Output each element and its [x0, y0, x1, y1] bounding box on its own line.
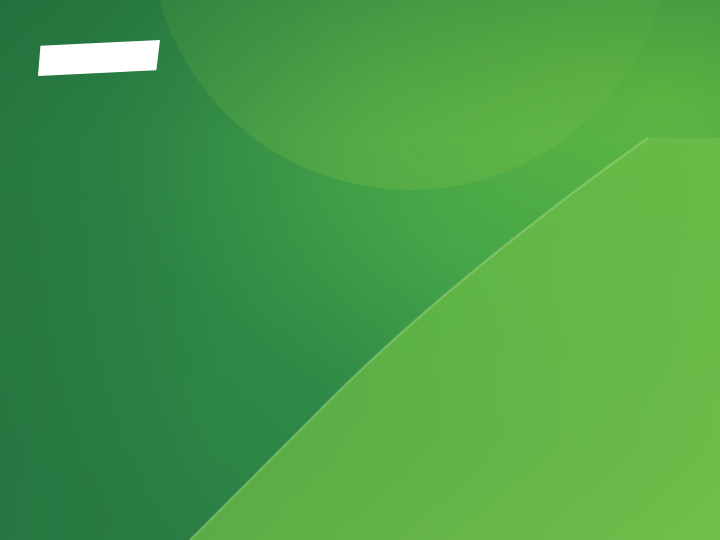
brand-logo [38, 40, 178, 85]
report-cover-slide [0, 0, 720, 540]
logo-plate-shape [38, 40, 160, 76]
logo-mark [38, 40, 160, 76]
